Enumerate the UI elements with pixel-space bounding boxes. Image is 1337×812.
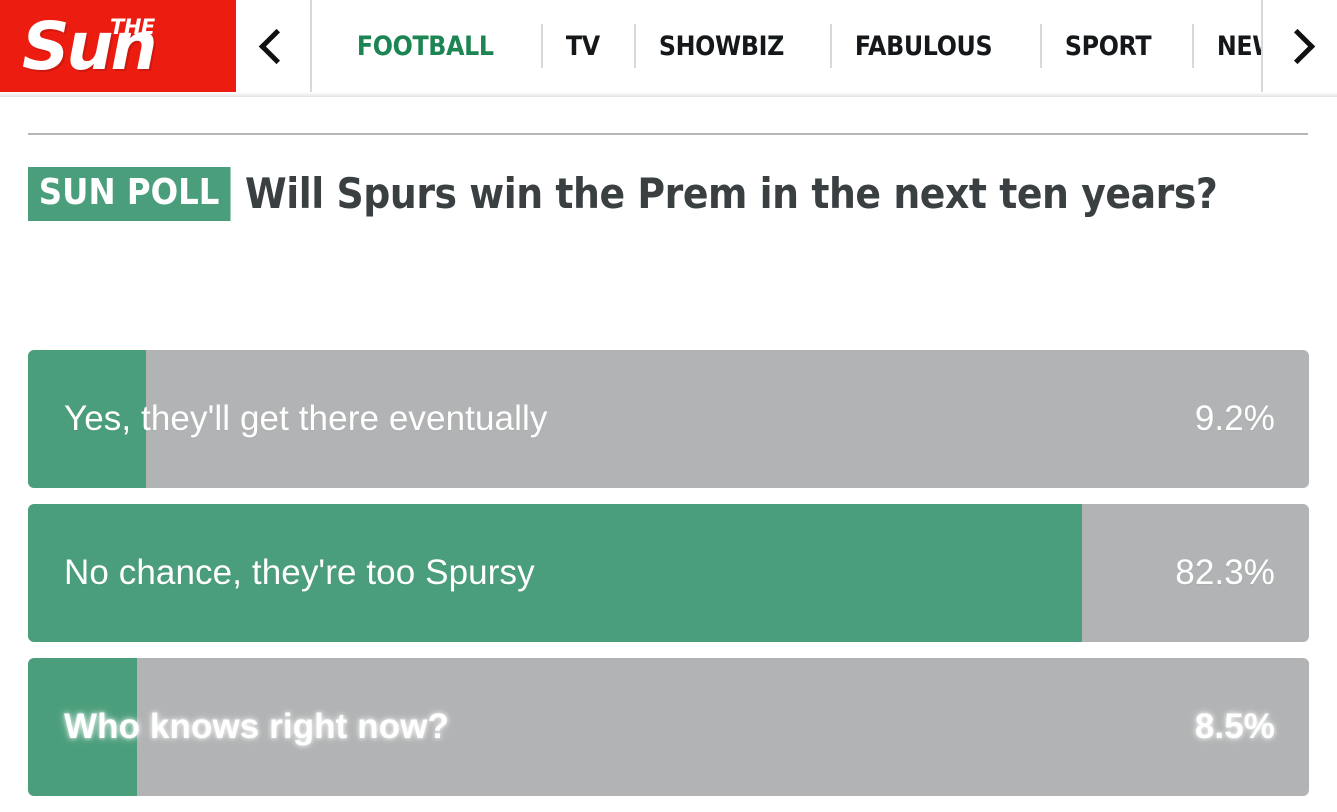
poll-badge: SUN POLL: [28, 167, 230, 221]
logo-kicker: THE: [110, 17, 155, 38]
chevron-left-icon: [258, 28, 293, 63]
nav-item-sport[interactable]: SPORT: [1042, 31, 1174, 62]
poll-option-percent: 82.3%: [1175, 504, 1275, 642]
poll-header: SUN POLL Will Spurs win the Prem in the …: [28, 167, 1325, 221]
poll-option-label: Who knows right now?: [64, 658, 449, 796]
nav-item-news[interactable]: NEWS: [1194, 31, 1261, 62]
nav-item-tv[interactable]: TV: [543, 31, 623, 62]
nav-item-fabulous[interactable]: FABULOUS: [832, 31, 1015, 62]
logo-artwork: Sun THE: [18, 14, 218, 84]
poll-option-row[interactable]: Who knows right now? 8.5%: [28, 658, 1309, 796]
poll-results: Yes, they'll get there eventually 9.2% N…: [28, 350, 1309, 812]
poll-option-label: No chance, they're too Spursy: [64, 504, 535, 642]
primary-nav: FOOTBALL TV SHOWBIZ FABULOUS SPORT NEWS: [312, 0, 1261, 92]
site-header: Sun THE FOOTBALL TV SHOWBIZ FABULOUS SPO…: [0, 0, 1337, 97]
poll-option-percent: 8.5%: [1195, 658, 1275, 796]
poll-option-row[interactable]: Yes, they'll get there eventually 9.2%: [28, 350, 1309, 488]
nav-next-button[interactable]: [1263, 0, 1337, 92]
poll-question: Will Spurs win the Prem in the next ten …: [245, 170, 1217, 218]
poll-option-label: Yes, they'll get there eventually: [64, 350, 547, 488]
nav-prev-button[interactable]: [236, 0, 312, 92]
poll-option-row[interactable]: No chance, they're too Spursy 82.3%: [28, 504, 1309, 642]
site-logo[interactable]: Sun THE: [0, 0, 236, 97]
section-divider: [28, 133, 1308, 135]
nav-item-football[interactable]: FOOTBALL: [334, 31, 517, 62]
poll-option-percent: 9.2%: [1195, 350, 1275, 488]
nav-item-showbiz[interactable]: SHOWBIZ: [636, 31, 807, 62]
chevron-right-icon: [1279, 28, 1314, 63]
